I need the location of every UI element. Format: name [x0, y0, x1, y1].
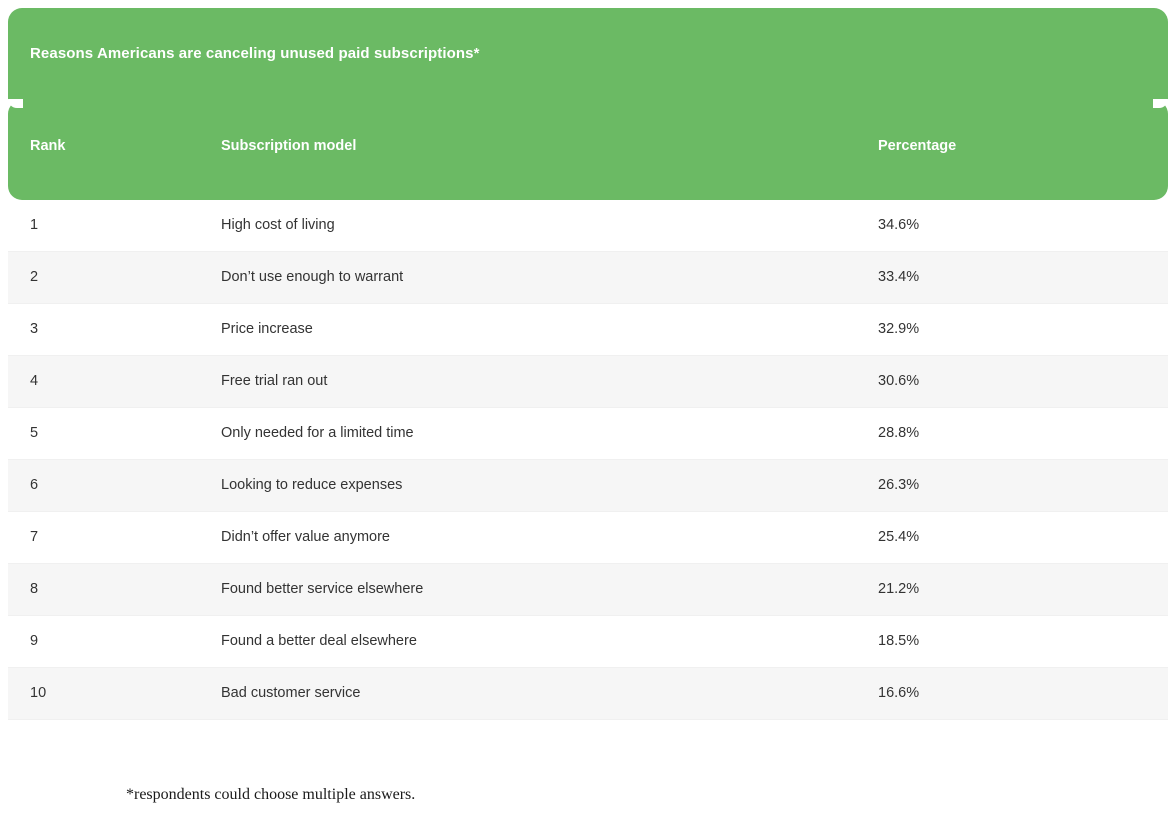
notch-right-decoration — [1153, 99, 1168, 108]
cell-percentage: 33.4% — [878, 269, 919, 285]
table-row: 7 Didn’t offer value anymore 25.4% — [8, 512, 1168, 564]
cell-percentage: 18.5% — [878, 633, 919, 649]
cell-model: Found a better deal elsewhere — [221, 633, 417, 649]
cell-model: Found better service elsewhere — [221, 581, 423, 597]
cell-rank: 9 — [30, 633, 38, 649]
cell-percentage: 32.9% — [878, 321, 919, 337]
cell-percentage: 16.6% — [878, 685, 919, 701]
cell-rank: 1 — [30, 217, 38, 233]
cell-percentage: 34.6% — [878, 217, 919, 233]
table-row: 2 Don’t use enough to warrant 33.4% — [8, 252, 1168, 304]
table-body: 1 High cost of living 34.6% 2 Don’t use … — [8, 200, 1168, 720]
cell-model: Free trial ran out — [221, 373, 327, 389]
column-header-percentage[interactable]: Percentage — [878, 138, 956, 154]
cell-rank: 4 — [30, 373, 38, 389]
column-header-row: Rank Subscription model Percentage — [8, 138, 1168, 160]
cell-percentage: 30.6% — [878, 373, 919, 389]
subscription-cancellation-table: Reasons Americans are canceling unused p… — [8, 8, 1168, 720]
cell-model: Bad customer service — [221, 685, 360, 701]
cell-rank: 8 — [30, 581, 38, 597]
cell-percentage: 28.8% — [878, 425, 919, 441]
table-row: 6 Looking to reduce expenses 26.3% — [8, 460, 1168, 512]
cell-rank: 6 — [30, 477, 38, 493]
cell-percentage: 26.3% — [878, 477, 919, 493]
cell-model: Looking to reduce expenses — [221, 477, 402, 493]
column-header-rank[interactable]: Rank — [30, 138, 65, 154]
table-row: 3 Price increase 32.9% — [8, 304, 1168, 356]
cell-rank: 7 — [30, 529, 38, 545]
table-row: 5 Only needed for a limited time 28.8% — [8, 408, 1168, 460]
cell-model: Price increase — [221, 321, 313, 337]
page-title: Reasons Americans are canceling unused p… — [30, 45, 480, 62]
table-row: 1 High cost of living 34.6% — [8, 200, 1168, 252]
notch-left-decoration — [8, 99, 23, 108]
cell-rank: 10 — [30, 685, 46, 701]
cell-rank: 2 — [30, 269, 38, 285]
table-row: 8 Found better service elsewhere 21.2% — [8, 564, 1168, 616]
table-title-banner: Reasons Americans are canceling unused p… — [8, 8, 1168, 100]
table-row: 9 Found a better deal elsewhere 18.5% — [8, 616, 1168, 668]
cell-model: Don’t use enough to warrant — [221, 269, 403, 285]
table-row: 4 Free trial ran out 30.6% — [8, 356, 1168, 408]
cell-rank: 3 — [30, 321, 38, 337]
table-column-header: Rank Subscription model Percentage — [8, 100, 1168, 200]
cell-percentage: 21.2% — [878, 581, 919, 597]
table-row: 10 Bad customer service 16.6% — [8, 668, 1168, 720]
cell-model: Only needed for a limited time — [221, 425, 414, 441]
column-header-subscription-model[interactable]: Subscription model — [221, 138, 356, 154]
cell-rank: 5 — [30, 425, 38, 441]
footnote-text: *respondents could choose multiple answe… — [126, 786, 415, 804]
cell-model: High cost of living — [221, 217, 335, 233]
cell-percentage: 25.4% — [878, 529, 919, 545]
cell-model: Didn’t offer value anymore — [221, 529, 390, 545]
